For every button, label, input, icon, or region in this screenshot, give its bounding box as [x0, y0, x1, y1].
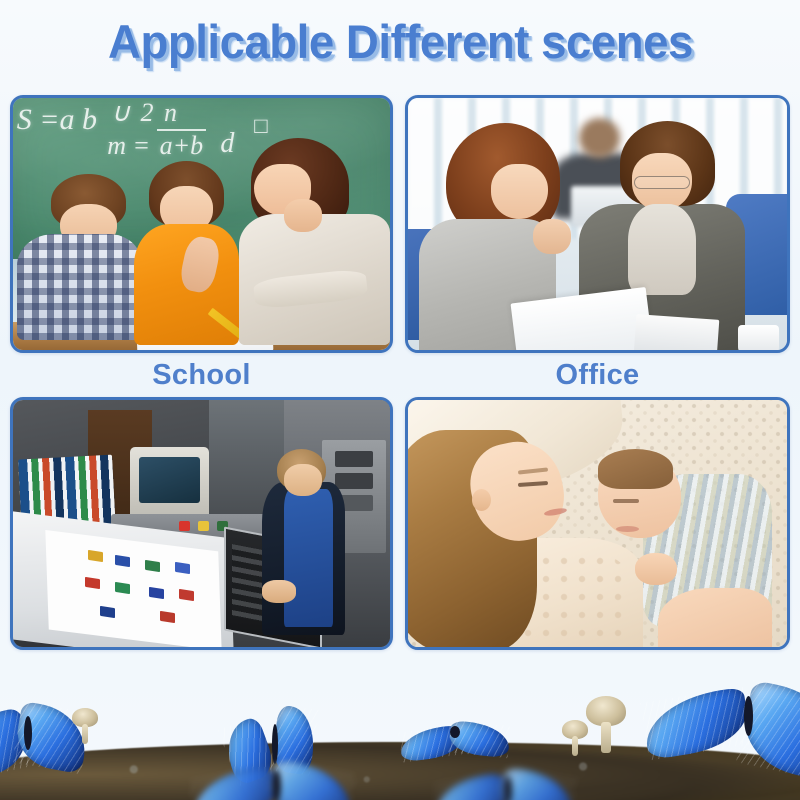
mushroom-cap — [72, 708, 98, 727]
color-swatch — [115, 582, 130, 594]
butterfly-body — [24, 716, 32, 750]
press-operator-face — [284, 464, 322, 496]
scene-card-school[interactable]: S =a b ∪ 2 n m = a+b d □ — [10, 95, 393, 353]
butterfly-icon — [438, 766, 568, 800]
butterfly-icon — [648, 680, 800, 776]
teacher-hand — [284, 199, 322, 232]
butterfly-icon — [232, 702, 316, 776]
press-operator-hand — [262, 580, 296, 602]
butterfly-icon — [0, 700, 86, 778]
baby-hair — [598, 449, 674, 489]
baby-closed-eye — [613, 499, 640, 503]
color-swatch — [145, 559, 160, 571]
mushroom-stem — [82, 724, 88, 744]
printing-photo — [13, 400, 390, 647]
scene-card-office[interactable]: Office — [405, 95, 790, 353]
press-operator-overalls — [284, 489, 333, 627]
woman-right-scarf — [628, 204, 696, 295]
scene-photo-school: S =a b ∪ 2 n m = a+b d □ — [10, 95, 393, 353]
scene-grid: S =a b ∪ 2 n m = a+b d □ — [10, 95, 790, 655]
color-swatch — [85, 577, 100, 589]
baby-lips — [616, 526, 639, 532]
color-swatch — [88, 549, 103, 561]
butterfly-wing-right — [498, 767, 577, 800]
page-title: Applicable Different scenes — [108, 14, 693, 69]
butterfly-body — [272, 770, 281, 800]
mushroom-icon — [586, 696, 626, 750]
butterfly-body — [450, 726, 460, 738]
console-button-yellow — [198, 521, 209, 531]
butterfly-wing-left — [0, 707, 32, 779]
butterfly-body — [504, 776, 512, 800]
butterfly-body — [744, 696, 753, 736]
butterfly-wing-right — [270, 705, 319, 776]
console-button-red — [179, 521, 190, 531]
butterfly-wing-right — [736, 680, 800, 784]
scene-photo-family — [405, 397, 790, 650]
scene-photo-printing — [10, 397, 393, 650]
scene-card-family[interactable]: Fmaily — [405, 397, 790, 650]
butterfly-wing-left — [218, 716, 278, 787]
butterfly-wing-left — [189, 765, 280, 800]
butterfly-wing-right — [266, 759, 356, 800]
office-photo — [408, 98, 787, 350]
scene-photo-office — [405, 95, 790, 353]
mushroom-icon — [562, 720, 588, 754]
mushroom-stem — [601, 722, 611, 753]
mushroom-stem — [572, 736, 578, 756]
woman-left-hand — [533, 219, 571, 254]
page-header: Applicable Different scenes — [0, 14, 800, 69]
student-boy-plaid-shirt — [17, 234, 141, 340]
classroom-photo: S =a b ∪ 2 n m = a+b d □ — [13, 98, 390, 350]
mushroom-cap — [562, 720, 588, 739]
family-photo — [408, 400, 787, 647]
color-swatch — [149, 587, 164, 599]
baby-fist — [635, 553, 677, 585]
butterfly-body — [272, 724, 278, 764]
mother-arm — [658, 588, 772, 647]
butterfly-wing-left — [433, 772, 510, 800]
crt-monitor — [130, 447, 209, 521]
butterfly-icon — [402, 716, 512, 762]
scene-caption-school: School — [10, 359, 393, 392]
butterfly-icon — [196, 758, 346, 800]
mossy-ground — [0, 742, 800, 800]
mushroom-icon — [72, 708, 98, 742]
butterfly-wing-right — [12, 701, 92, 774]
coffee-cup — [738, 325, 780, 350]
eyeglasses-icon — [634, 176, 691, 189]
scene-caption-office: Office — [405, 359, 790, 392]
scene-card-printing[interactable]: Printing Industry — [10, 397, 393, 650]
butterfly-wing-right — [448, 720, 511, 758]
butterfly-wing-left — [640, 687, 752, 761]
color-swatch — [115, 554, 130, 566]
notebook — [634, 314, 720, 350]
butterfly-wing-left — [398, 724, 464, 762]
bottom-decoration — [0, 680, 800, 800]
mushroom-cap — [586, 696, 626, 726]
